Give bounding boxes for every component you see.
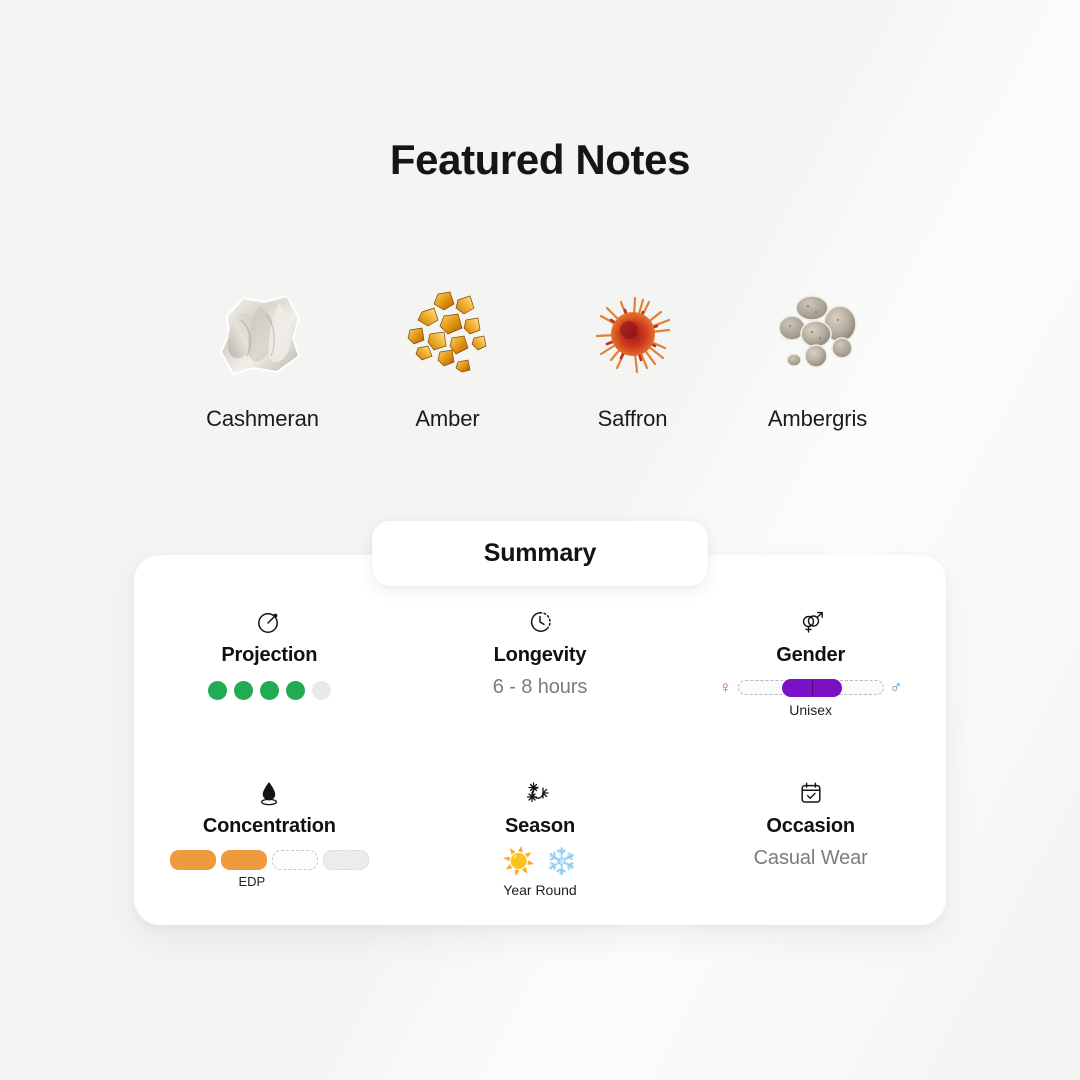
note-label: Ambergris — [768, 406, 867, 432]
gender-slider-row: ♀ ♂ — [719, 679, 903, 696]
summary-cell-season: Season ☀️ ❄️ Year Round — [405, 778, 676, 898]
projection-dot — [260, 681, 279, 700]
projection-dots — [208, 681, 331, 700]
occasion-value: Casual Wear — [754, 847, 868, 870]
note-item-amber[interactable]: Amber — [355, 286, 540, 432]
cell-title: Season — [505, 815, 575, 838]
note-item-cashmeran[interactable]: Cashmeran — [170, 286, 355, 432]
projection-dot — [208, 681, 227, 700]
female-symbol-icon: ♀ — [719, 679, 732, 696]
summary-cell-longevity: Longevity 6 - 8 hours — [405, 607, 676, 718]
clock-icon — [527, 607, 553, 637]
sun-snowflake-icon — [526, 778, 554, 808]
cell-title: Concentration — [203, 815, 336, 838]
snowflake-icon: ❄️ — [545, 848, 577, 874]
gender-fill — [782, 679, 842, 697]
cashmeran-note-image — [207, 286, 319, 382]
projection-dot — [286, 681, 305, 700]
saffron-note-image — [577, 286, 689, 382]
summary-card: Projection Longevi — [134, 555, 946, 925]
cell-title: Projection — [221, 644, 317, 667]
cell-title: Gender — [776, 644, 845, 667]
gender-caption: Unisex — [789, 702, 832, 718]
summary-pill: Summary — [372, 521, 708, 586]
summary-cell-projection: Projection — [134, 607, 405, 718]
summary-pill-label: Summary — [484, 539, 597, 568]
cell-title: Longevity — [494, 644, 587, 667]
longevity-value: 6 - 8 hours — [493, 676, 588, 699]
note-label: Amber — [415, 406, 479, 432]
amber-note-image — [392, 286, 504, 382]
calendar-check-icon — [798, 778, 824, 808]
concentration-segment — [272, 850, 318, 870]
note-label: Saffron — [598, 406, 668, 432]
concentration-segment — [221, 850, 267, 870]
projection-dot — [312, 681, 331, 700]
gauge-icon — [256, 607, 282, 637]
concentration-meter[interactable]: EDP — [134, 850, 405, 889]
gender-track[interactable] — [738, 680, 884, 695]
concentration-caption: EDP — [238, 874, 265, 889]
summary-cell-concentration: Concentration EDP — [134, 778, 405, 898]
page-title: Featured Notes — [0, 136, 1080, 184]
droplet-icon — [256, 778, 282, 808]
page-root: Featured Notes — [0, 0, 1080, 1080]
summary-cell-occasion: Occasion Casual Wear — [675, 778, 946, 898]
featured-notes-row: Cashmeran — [170, 286, 910, 432]
ambergris-note-image — [762, 286, 874, 382]
concentration-segment — [170, 850, 216, 870]
season-emoji-row: ☀️ ❄️ — [503, 848, 578, 874]
note-label: Cashmeran — [206, 406, 319, 432]
gender-icon — [797, 607, 825, 637]
concentration-segment — [323, 850, 369, 870]
male-symbol-icon: ♂ — [890, 679, 903, 696]
cell-title: Occasion — [766, 815, 854, 838]
summary-cell-gender: Gender ♀ ♂ Unisex — [675, 607, 946, 718]
note-item-ambergris[interactable]: Ambergris — [725, 286, 910, 432]
sun-icon: ☀️ — [503, 848, 535, 874]
summary-grid: Projection Longevi — [134, 607, 946, 898]
gender-slider[interactable]: ♀ ♂ Unisex — [719, 679, 903, 718]
note-item-saffron[interactable]: Saffron — [540, 286, 725, 432]
season-caption: Year Round — [503, 882, 576, 898]
season-indicator: ☀️ ❄️ Year Round — [503, 848, 578, 898]
concentration-segments — [170, 850, 369, 870]
projection-dot — [234, 681, 253, 700]
